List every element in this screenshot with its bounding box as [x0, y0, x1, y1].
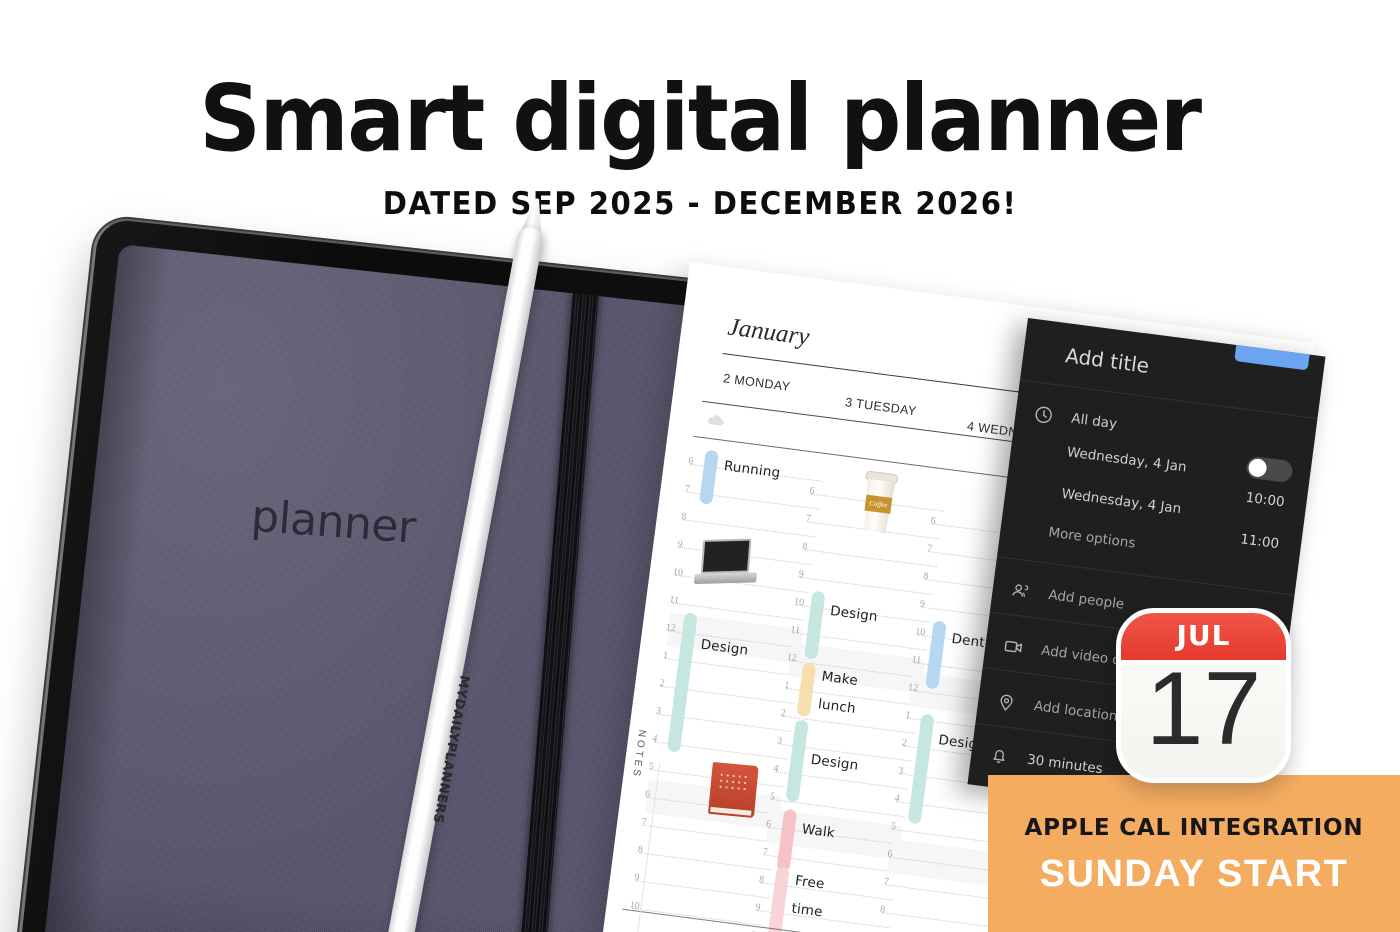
planner-event-label: Make: [821, 668, 859, 689]
planner-event-chip: [785, 719, 808, 802]
video-camera-icon: [1002, 636, 1024, 658]
planner-day-header-1: 3 TUESDAY: [844, 395, 917, 418]
planner-event-label: Free: [794, 873, 825, 893]
gcal-row-label: Add people: [1047, 587, 1125, 613]
planner-event-label: Design: [829, 603, 878, 625]
cloud-icon: [705, 413, 726, 426]
people-icon: [1010, 580, 1032, 602]
notes-tab-label: NOTES: [630, 729, 647, 779]
page-subtitle: DATED SEP 2025 - DECEMBER 2026!: [42, 186, 1358, 222]
clock-icon: [1032, 404, 1054, 426]
gcal-row-label: Add location: [1033, 698, 1118, 725]
app-icon-face: JUL 17: [1121, 613, 1286, 778]
red-book-sticker: [708, 762, 759, 818]
gcal-row-label: 30 minutes: [1026, 752, 1104, 778]
planner-event-label: time: [791, 901, 824, 921]
event-title-input[interactable]: Add title: [1064, 343, 1151, 378]
feature-badge: APPLE CAL INTEGRATION SUNDAY START: [988, 775, 1400, 932]
promo-banner: Smart digital planner DATED SEP 2025 - D…: [0, 0, 1400, 932]
coffee-cup-sticker: Coffee: [855, 470, 905, 537]
planner-event-chip: [767, 866, 790, 932]
laptop-sticker: [694, 537, 759, 588]
planner-month-title: January: [726, 314, 811, 352]
page-title: Smart digital planner: [49, 74, 1351, 164]
location-pin-icon: [995, 691, 1017, 713]
planner-event-label: lunch: [817, 696, 857, 717]
planner-event-chip: [699, 450, 719, 505]
gcal-row-label: More options: [1048, 524, 1137, 551]
planner-day-header-0: 2 MONDAY: [722, 371, 791, 394]
badge-line-2: SUNDAY START: [988, 853, 1400, 896]
bell-icon: [988, 745, 1010, 767]
planner-event-label: Design: [810, 752, 859, 774]
apple-calendar-app-icon[interactable]: JUL 17: [1116, 608, 1291, 783]
app-icon-day: 17: [1121, 657, 1286, 761]
tablet-screen: planner: [40, 244, 709, 932]
coffee-sticker-label: Coffee: [864, 495, 892, 514]
app-icon-month: JUL: [1121, 619, 1286, 652]
planner-event-chip: [908, 714, 935, 825]
badge-line-1: APPLE CAL INTEGRATION: [988, 815, 1400, 841]
gcal-row-label: All day: [1070, 410, 1118, 432]
planner-event-label: Running: [723, 458, 781, 481]
